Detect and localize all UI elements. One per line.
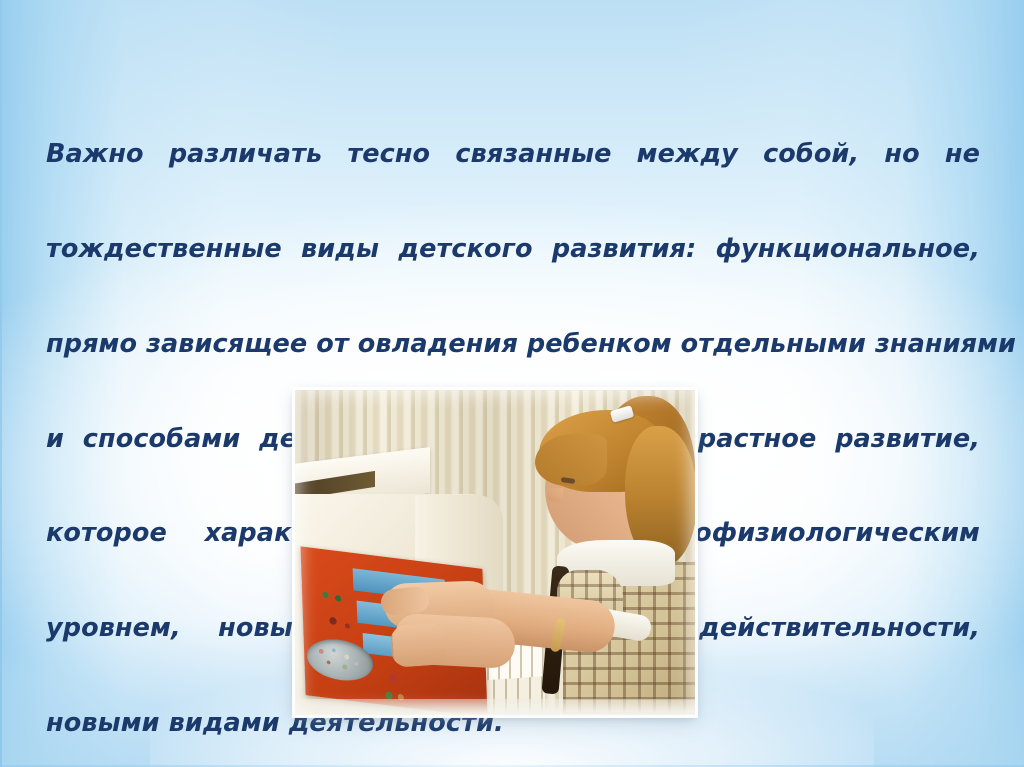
body-text-line: прямо зависящее от овладения ребенком от… [46, 329, 980, 361]
body-text-line: тождественные виды детского развития: фу… [46, 234, 980, 266]
slide-photo-frame [295, 390, 695, 715]
photo-bottom-edge [295, 699, 695, 715]
photo-child-fingers-lower [390, 622, 449, 668]
slide: Важно различать тесно связанные между со… [0, 0, 1024, 767]
slide-edge-left [0, 0, 2, 767]
photo-child-nose [547, 488, 563, 502]
slide-photo [295, 390, 695, 715]
body-text-line: Важно различать тесно связанные между со… [46, 139, 980, 171]
